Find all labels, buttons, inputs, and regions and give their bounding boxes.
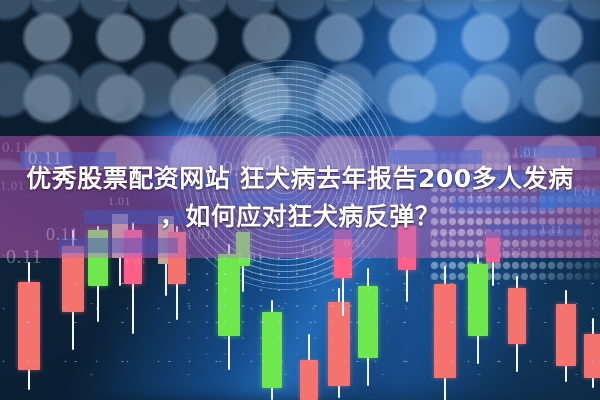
floating-number: 0.11 [2, 140, 30, 157]
floating-number: 0.11 [344, 236, 367, 251]
floating-number: 1.11 [500, 244, 523, 259]
headline-line-2: ，如何应对狂犬病反弹？ [0, 198, 600, 236]
floating-number: 1.01 [300, 242, 325, 258]
floating-number: 0.11 [6, 246, 42, 264]
floating-number: 1.01 [236, 250, 264, 264]
headline: 优秀股票配资网站 狂犬病去年报告200多人发病 ，如何应对狂犬病反弹？ [0, 160, 600, 236]
particle-burst [180, 250, 440, 370]
banner-image: 0.110.111.011.110.210.110.111.011.011.01… [0, 0, 600, 400]
headline-line-1: 优秀股票配资网站 狂犬病去年报告200多人发病 [0, 160, 600, 198]
floating-number: 1.01 [124, 256, 147, 264]
